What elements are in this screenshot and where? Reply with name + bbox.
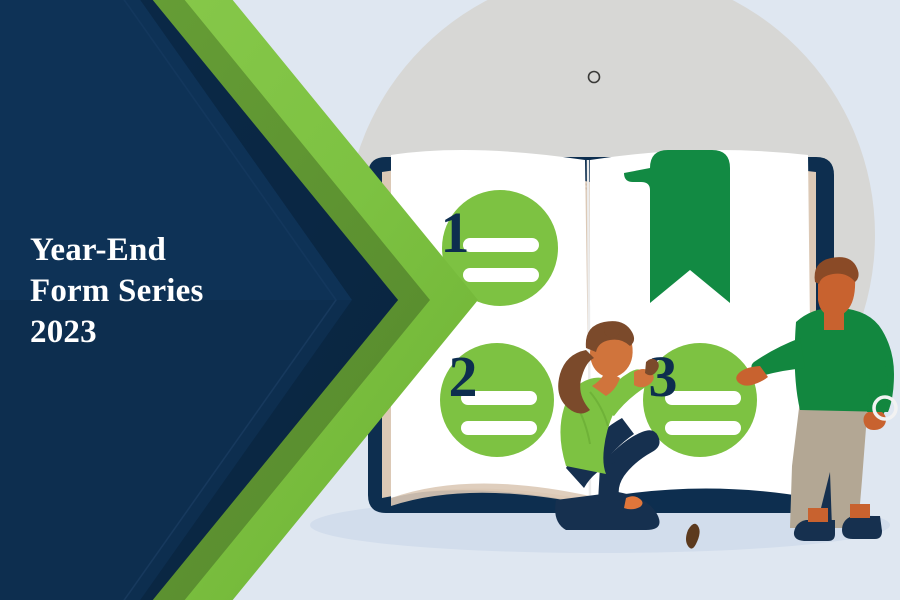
- step-3-bar: [665, 421, 741, 435]
- man-ankle-left: [808, 508, 828, 522]
- man-shoe-right: [842, 516, 882, 539]
- man-ankle-right: [850, 504, 870, 518]
- man-shoe-left: [794, 520, 835, 541]
- step-1-bar: [463, 238, 539, 252]
- step-1-bar: [463, 268, 539, 282]
- step-number-1: 1: [441, 200, 470, 265]
- woman-hair-bun: [604, 322, 620, 338]
- step-number-2: 2: [449, 344, 478, 409]
- illustration-canvas: 1 2 3: [0, 0, 900, 600]
- year-end-form-series-banner: 1 2 3: [0, 0, 900, 600]
- step-2-bar: [461, 421, 537, 435]
